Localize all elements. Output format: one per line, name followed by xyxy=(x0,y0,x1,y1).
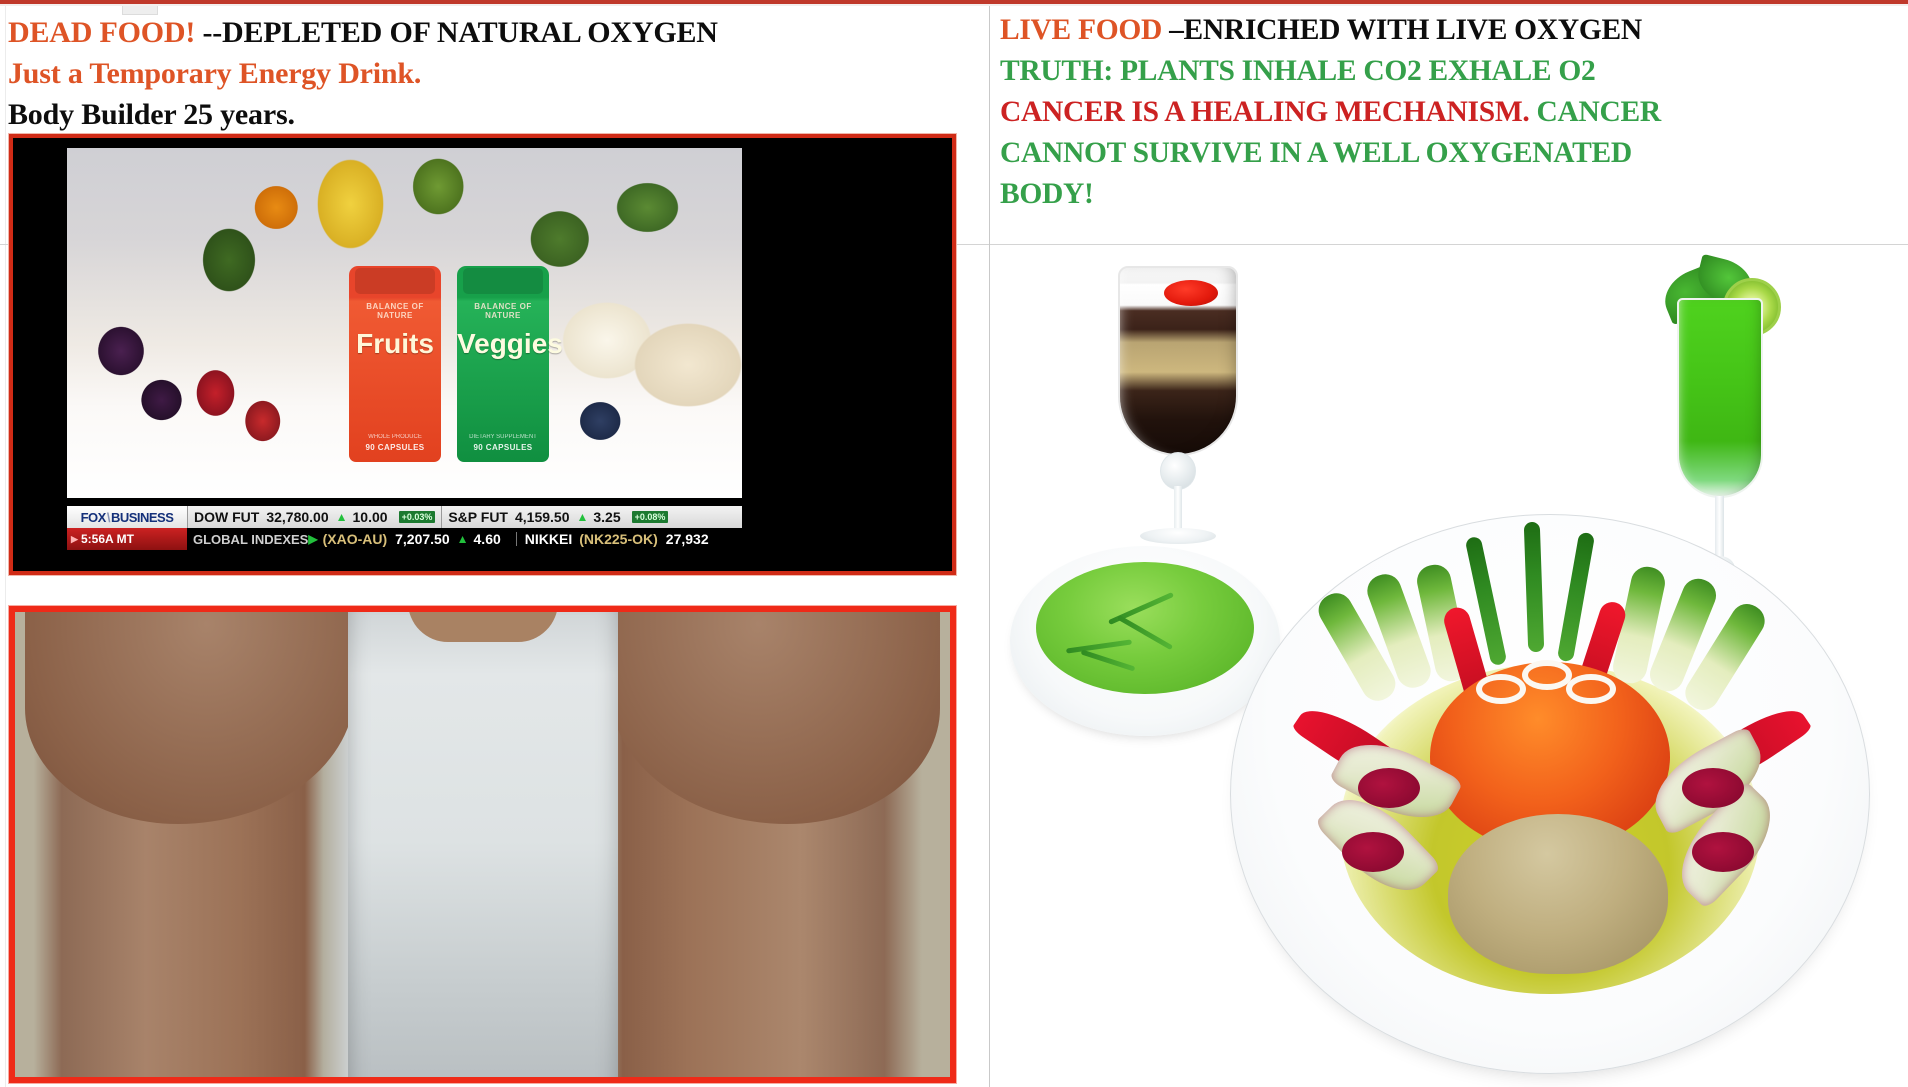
fox-logo-business: BUSINESS xyxy=(111,510,173,525)
bottle-cap-icon xyxy=(463,268,543,294)
fruits-bottle: BALANCE OF NATURE Fruits WHOLE PRODUCE 9… xyxy=(349,266,441,462)
dead-food-lead: DEAD FOOD! xyxy=(8,16,195,49)
beet-slice xyxy=(1358,768,1420,808)
veggies-bottle-brand: BALANCE OF NATURE xyxy=(457,302,549,320)
sp-fut-change: 3.25 xyxy=(593,509,620,525)
sp-fut-percent: +0.08% xyxy=(632,511,669,523)
fox-business-ticker: FOX\BUSINESS DOW FUT 32,780.00 ▲ 10.00 +… xyxy=(67,506,742,550)
dow-fut-value: 32,780.00 xyxy=(266,509,328,525)
veggies-bottle-sub: DIETARY SUPPLEMENT xyxy=(457,434,549,440)
dead-food-bodybuilder-line: Body Builder 25 years. xyxy=(8,94,983,135)
global-indexes-label: GLOBAL INDEXES xyxy=(193,532,308,547)
ticker-divider xyxy=(516,532,517,546)
fox-logo-slash: \ xyxy=(107,510,110,525)
veggies-bottle: BALANCE OF NATURE Veggies DIETARY SUPPLE… xyxy=(457,266,549,462)
live-food-headings: LIVE FOOD –ENRICHED WITH LIVE OXYGEN TRU… xyxy=(1000,10,1900,215)
glass-foot xyxy=(1140,528,1216,544)
play-arrow-icon: ▶ xyxy=(308,532,317,546)
live-food-oxygenated-line: CANNOT SURVIVE IN A WELL OXYGENATED xyxy=(1000,133,1900,174)
beet-slice xyxy=(1682,768,1744,808)
live-food-truth-line: TRUTH: PLANTS INHALE CO2 EXHALE O2 xyxy=(1000,51,1900,92)
nikkei-value: 27,932 xyxy=(666,531,709,547)
left-shoulder xyxy=(25,606,355,824)
couscous-mound xyxy=(1448,814,1668,974)
dow-fut-label: DOW FUT xyxy=(194,509,259,525)
dead-food-column: DEAD FOOD! --DEPLETED OF NATURAL OXYGEN … xyxy=(0,6,989,1087)
veggies-bottle-count: 90 CAPSULES xyxy=(457,443,549,452)
bodybuilder-photo-inner xyxy=(15,612,950,1077)
ticker-row-global: 5:56A MT GLOBAL INDEXES ▶ (XAO-AU) 7,207… xyxy=(67,528,742,550)
cancer-trailing-text: CANCER xyxy=(1529,96,1660,128)
up-arrow-icon: ▲ xyxy=(457,532,469,546)
live-food-cancer-line: CANCER IS A HEALING MECHANISM. CANCER xyxy=(1000,92,1900,133)
xao-au-symbol: (XAO-AU) xyxy=(323,531,388,547)
fruits-bottle-count: 90 CAPSULES xyxy=(349,443,441,452)
veggies-bottle-name: Veggies xyxy=(457,328,549,360)
left-margin-guide xyxy=(0,6,6,1087)
green-soup xyxy=(1036,562,1254,694)
fruits-bottle-brand: BALANCE OF NATURE xyxy=(349,302,441,320)
salad-platter xyxy=(1230,514,1870,1074)
fox-business-logo: FOX\BUSINESS xyxy=(67,506,187,528)
bottle-cap-icon xyxy=(355,268,435,294)
document-page: DEAD FOOD! --DEPLETED OF NATURAL OXYGEN … xyxy=(0,0,1908,1087)
dead-food-rest: --DEPLETED OF NATURAL OXYGEN xyxy=(195,16,718,49)
cherry-topping xyxy=(1164,280,1218,306)
nikkei-label: NIKKEI xyxy=(525,531,572,547)
comparison-table: DEAD FOOD! --DEPLETED OF NATURAL OXYGEN … xyxy=(0,6,1908,1087)
layered-dessert-glass xyxy=(1108,266,1248,566)
glass-stem-knob xyxy=(1160,452,1196,490)
cocktail-flute xyxy=(1677,298,1763,498)
dessert-glass-bowl xyxy=(1118,266,1238,456)
glass-stem xyxy=(1174,486,1182,534)
xao-au-change: 4.60 xyxy=(474,531,501,547)
live-food-body-line: BODY! xyxy=(1000,174,1900,215)
dow-fut-percent: +0.03% xyxy=(399,511,436,523)
nikkei-symbol: (NK225-OK) xyxy=(579,531,658,547)
dead-food-headings: DEAD FOOD! --DEPLETED OF NATURAL OXYGEN … xyxy=(8,12,983,135)
dow-fut-change: 10.00 xyxy=(353,509,388,525)
sp-fut-label: S&P FUT xyxy=(448,509,508,525)
fox-logo-fox: FOX xyxy=(81,510,106,525)
up-arrow-icon: ▲ xyxy=(576,510,588,524)
onion-ring xyxy=(1566,674,1616,704)
fruits-bottle-name: Fruits xyxy=(349,328,441,360)
broadcast-time: 5:56A MT xyxy=(67,528,187,550)
dead-food-headline: DEAD FOOD! --DEPLETED OF NATURAL OXYGEN xyxy=(8,12,983,53)
right-cell-divider xyxy=(990,244,1908,245)
global-indexes-cell: GLOBAL INDEXES ▶ (XAO-AU) 7,207.50 ▲ 4.6… xyxy=(187,528,722,550)
ticker-row-futures: FOX\BUSINESS DOW FUT 32,780.00 ▲ 10.00 +… xyxy=(67,506,742,528)
live-food-rest: –ENRICHED WITH LIVE OXYGEN xyxy=(1162,14,1642,46)
fox-business-screengrab[interactable]: BALANCE OF NATURE Fruits WHOLE PRODUCE 9… xyxy=(9,134,956,575)
live-food-photo[interactable] xyxy=(1000,256,1900,1086)
live-food-headline: LIVE FOOD –ENRICHED WITH LIVE OXYGEN xyxy=(1000,10,1900,51)
onion-ring xyxy=(1522,660,1572,690)
dead-food-subline: Just a Temporary Energy Drink. xyxy=(8,53,983,94)
fruits-bottle-sub: WHOLE PRODUCE xyxy=(349,434,441,440)
right-shoulder xyxy=(610,606,940,824)
live-food-lead: LIVE FOOD xyxy=(1000,14,1162,46)
xao-au-value: 7,207.50 xyxy=(395,531,450,547)
ticker-sp-fut: S&P FUT 4,159.50 ▲ 3.25 +0.08% xyxy=(441,506,674,528)
fox-screen-inner: BALANCE OF NATURE Fruits WHOLE PRODUCE 9… xyxy=(13,138,952,571)
up-arrow-icon: ▲ xyxy=(336,510,348,524)
bodybuilder-photo[interactable] xyxy=(9,606,956,1083)
beet-slice xyxy=(1342,832,1404,872)
ticker-dow-fut: DOW FUT 32,780.00 ▲ 10.00 +0.03% xyxy=(187,506,441,528)
onion-ring xyxy=(1476,674,1526,704)
sp-fut-value: 4,159.50 xyxy=(515,509,570,525)
tank-top xyxy=(348,606,618,1083)
cancer-healing-text: CANCER IS A HEALING MECHANISM. xyxy=(1000,96,1529,128)
beet-slice xyxy=(1692,832,1754,872)
neck xyxy=(408,606,558,642)
produce-photo: BALANCE OF NATURE Fruits WHOLE PRODUCE 9… xyxy=(67,148,742,498)
